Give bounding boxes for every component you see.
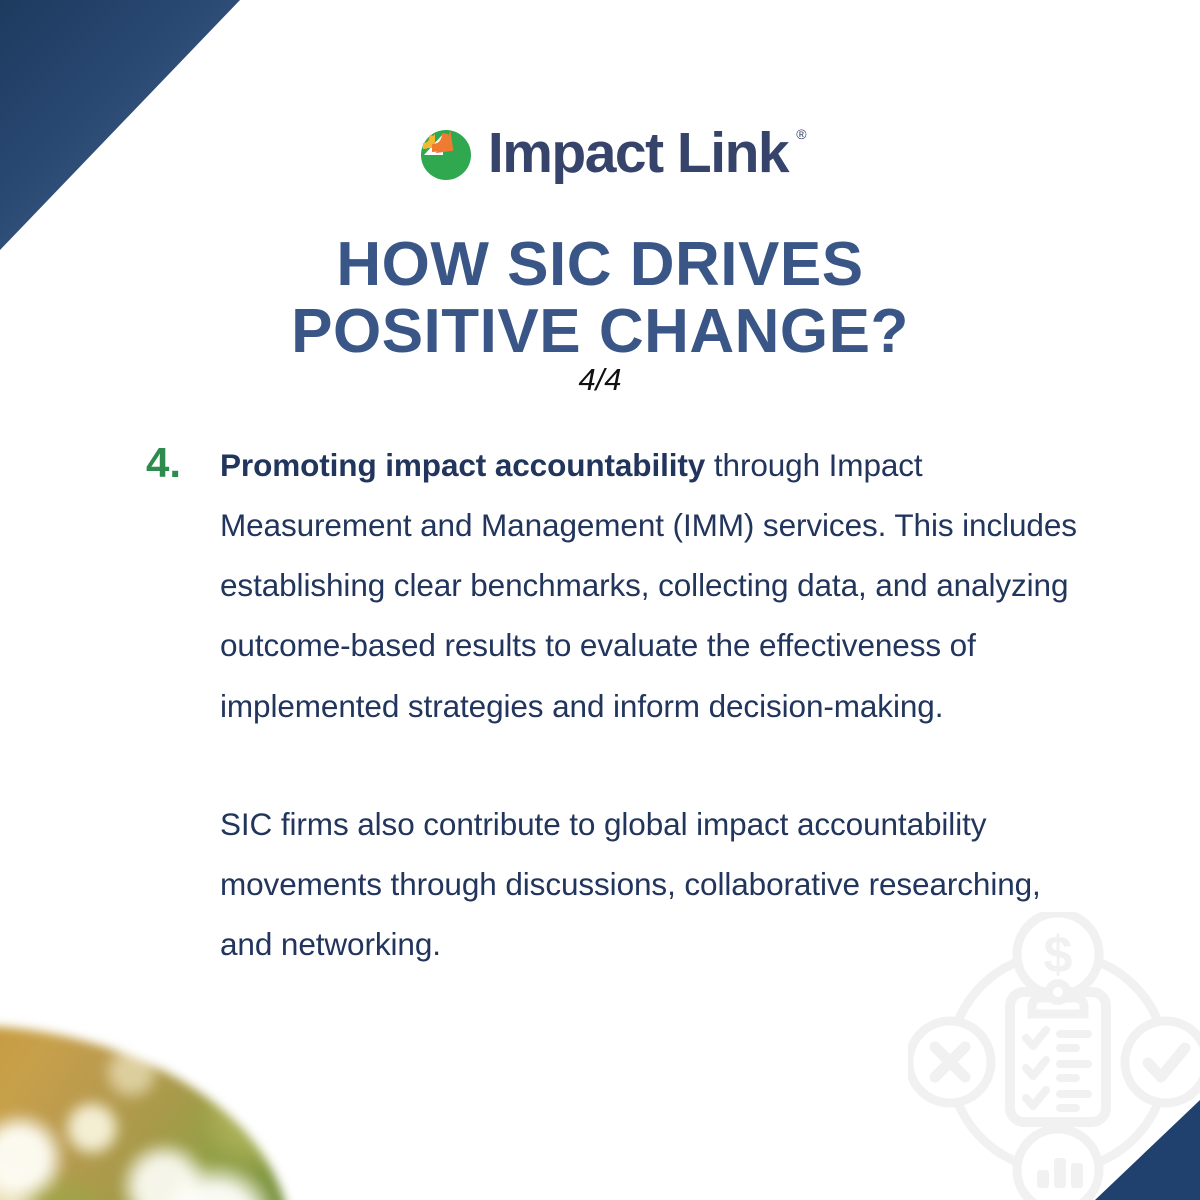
brand-wordmark-text: Impact Link [488,121,788,185]
paragraph-2: SIC firms also contribute to global impa… [220,794,1096,974]
brand-logo-lockup: Impact Link ® [0,122,1200,184]
list-number: 4. [146,435,220,491]
bottom-right-triangle-decoration [1095,1100,1200,1200]
check-circle-icon [1125,1021,1200,1103]
paragraph-spacer [220,736,1096,794]
impact-link-logo-mark [412,122,474,184]
body-copy: Promoting impact accountability through … [220,435,1096,974]
paragraph-1-lead: Promoting impact accountability [220,447,705,483]
registered-trademark-icon: ® [796,127,805,141]
page-counter: 4/4 [0,362,1200,398]
watermark-ring [950,954,1166,1170]
slide-canvas: $ [0,0,1200,1200]
content-block: 4. Promoting impact accountability throu… [146,435,1096,974]
paragraph-1: Promoting impact accountability through … [220,435,1096,736]
bottom-left-photo-decoration [0,1025,290,1200]
clipboard-checklist-icon [1010,983,1106,1122]
bar-chart-icon [1017,1129,1099,1200]
bokeh-texture [0,1025,290,1200]
brand-wordmark: Impact Link ® [488,125,788,182]
paragraph-1-rest: through Impact Measurement and Managemen… [220,447,1077,724]
close-x-icon [909,1021,991,1103]
page-title: HOW SIC DRIVES POSITIVE CHANGE? [60,232,1140,366]
